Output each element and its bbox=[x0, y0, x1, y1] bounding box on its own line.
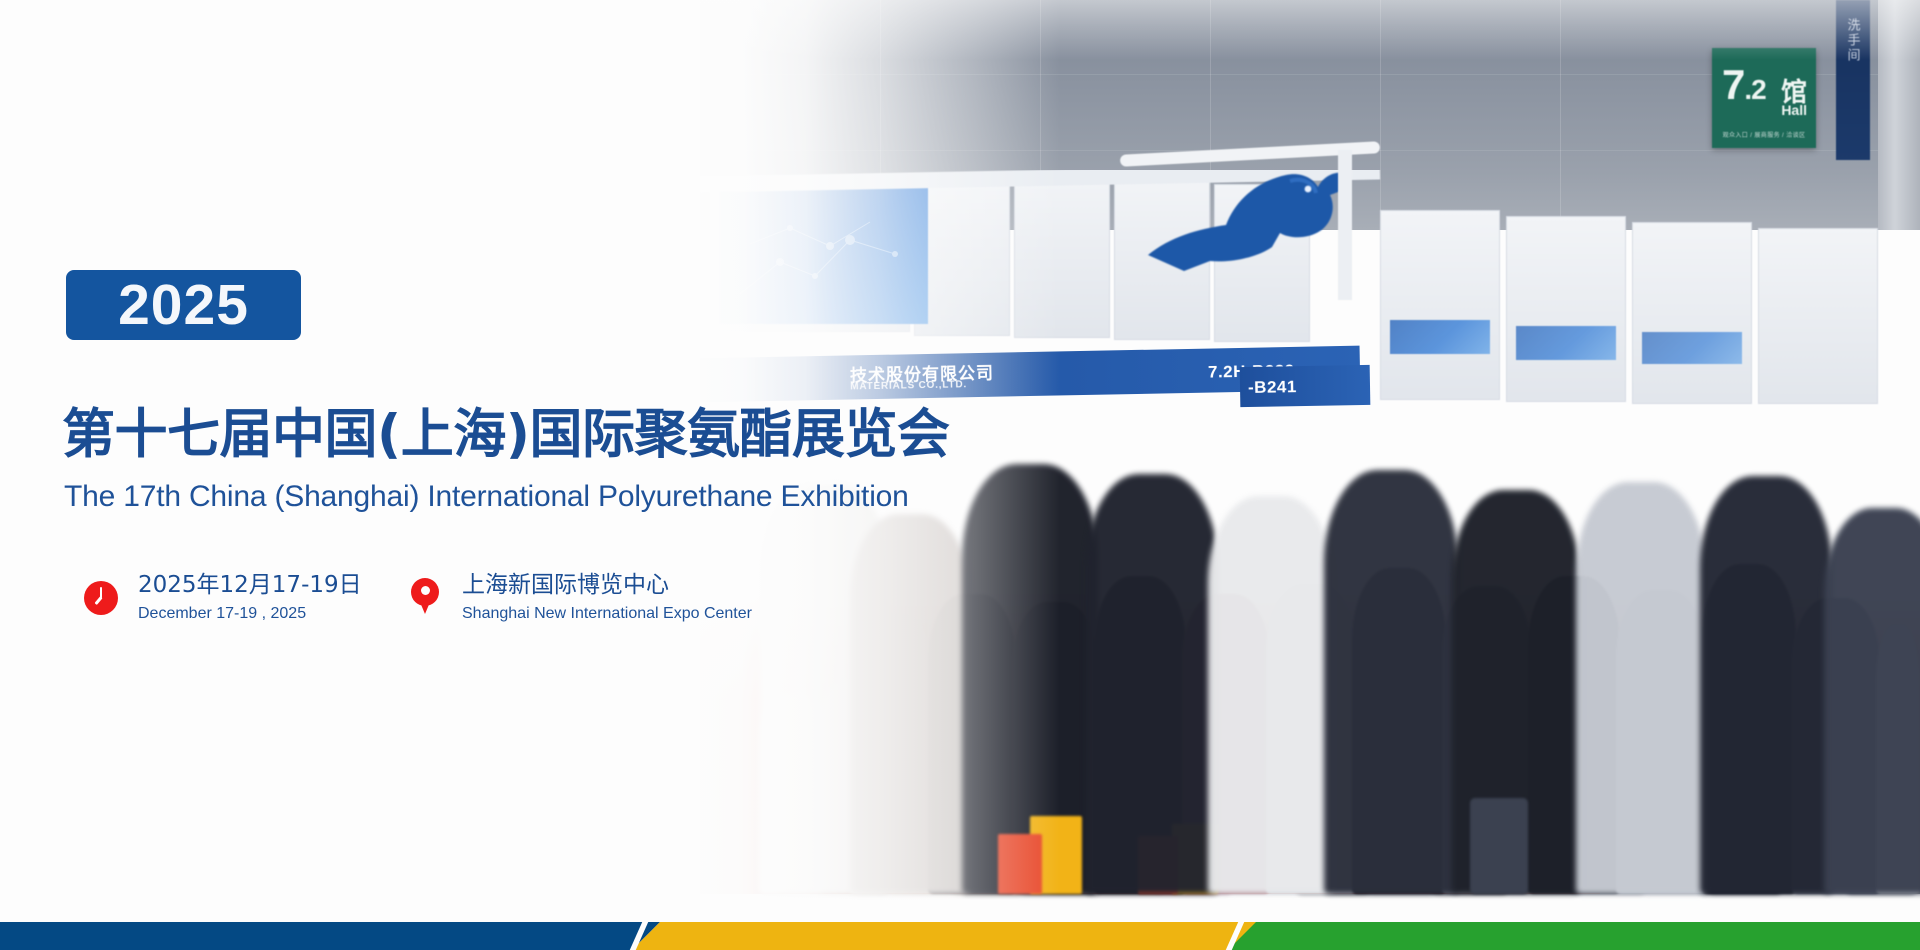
hall-label-en: Hall bbox=[1781, 102, 1807, 118]
year-badge-label: 2025 bbox=[118, 277, 249, 334]
event-date-en: December 17-19 , 2025 bbox=[138, 602, 362, 625]
map-pin-icon bbox=[402, 578, 448, 618]
wayfinding-banner: 洗手间 bbox=[1836, 0, 1870, 160]
hall-number-sign: 7.2 馆 Hall 观众入口 / 展商服务 / 洽谈区 bbox=[1712, 48, 1816, 148]
year-badge: 2025 bbox=[66, 270, 301, 340]
bar-segment-blue bbox=[0, 922, 660, 950]
hall-number: 7.2 bbox=[1722, 64, 1766, 106]
event-date-cn: 2025年12月17-19日 bbox=[138, 571, 362, 600]
event-date-block: 2025年12月17-19日 December 17-19 , 2025 bbox=[60, 548, 380, 648]
wayfinding-banner-text: 洗手间 bbox=[1844, 18, 1863, 63]
event-venue-en: Shanghai New International Expo Center bbox=[462, 602, 752, 625]
event-info-strip: 2025年12月17-19日 December 17-19 , 2025 上海新… bbox=[60, 548, 860, 648]
bottom-color-bar bbox=[0, 922, 1920, 950]
exhibition-title-cn: 第十七届中国(上海)国际聚氨酯展览会 bbox=[62, 392, 949, 468]
clock-icon bbox=[78, 581, 124, 615]
event-venue-block: 上海新国际博览中心 Shanghai New International Exp… bbox=[380, 548, 840, 648]
hall-sign-subtext: 观众入口 / 展商服务 / 洽谈区 bbox=[1712, 130, 1816, 139]
bar-segment-green bbox=[1228, 922, 1920, 950]
banner-content: 2025 第十七届中国(上海)国际聚氨酯展览会 The 17th China (… bbox=[0, 0, 920, 922]
exhibition-banner: 7.2 馆 Hall 观众入口 / 展商服务 / 洽谈区 洗手间 bbox=[0, 0, 1920, 950]
exhibition-title-en: The 17th China (Shanghai) International … bbox=[64, 480, 909, 514]
bar-segment-yellow bbox=[632, 922, 1284, 950]
event-venue-cn: 上海新国际博览中心 bbox=[462, 571, 752, 600]
